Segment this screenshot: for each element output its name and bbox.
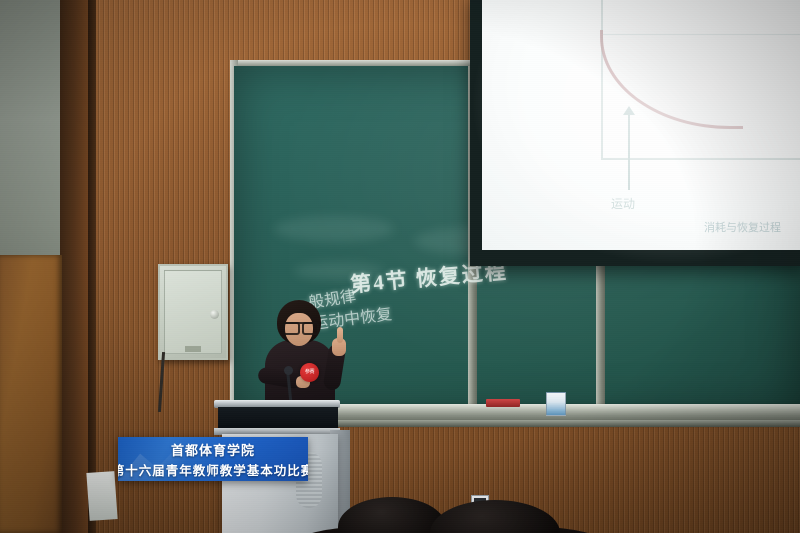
chart-decay-curve [600,30,743,129]
chart-annotation-exercise: 运动 [611,195,635,212]
chart-caption: 消耗与恢复过程 [704,219,781,235]
chart-arrow-shaft [628,110,630,190]
chart-arrow-icon [623,106,635,115]
chalk-smudge [274,216,394,242]
glasses-lens-left [283,322,300,335]
badge-label: 参赛 [300,368,319,375]
chart-y-axis [601,0,603,160]
contestant-badge: 参赛 [300,363,319,382]
banner-institution-name: 首都体育学院 [171,440,255,459]
glasses-lens-right [302,322,319,335]
paper-sheet [86,471,117,521]
wooden-door[interactable] [0,255,62,533]
banner-event-name: 第十六届青年教师教学基本功比赛 [118,460,308,479]
projection-screen: 运动 消耗与恢复过程 [482,0,800,250]
teacher-pointing-finger [337,327,343,343]
lecture-hall-photo: 第4节 恢复过程 一般规律 运动中恢复 运动 消耗与恢复过程 [0,0,800,533]
lock-icon[interactable] [210,310,219,319]
panel-vent [185,346,201,352]
chart-x-axis [601,158,800,160]
blackboard-eraser[interactable] [486,399,520,407]
wall-seam [88,0,96,533]
electrical-panel-box[interactable] [158,264,228,360]
chalk-smudge [294,262,384,280]
chalk-box[interactable] [546,392,566,416]
lectern-upper-panel [218,407,338,429]
event-banner: 首都体育学院 第十六届青年教师教学基本功比赛 [118,437,308,481]
microphone-icon [284,366,293,375]
